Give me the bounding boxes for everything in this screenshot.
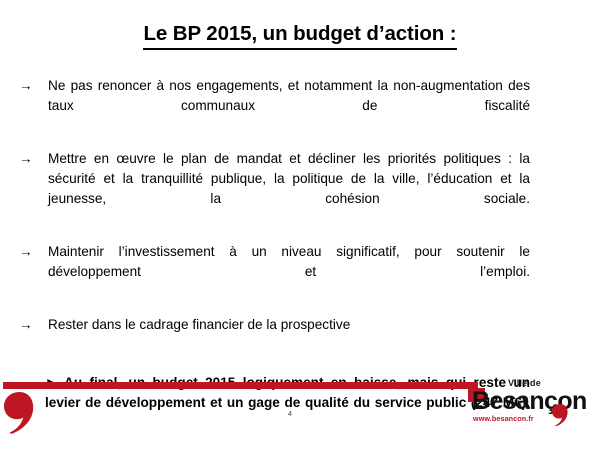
bullet-item: → Rester dans le cadrage financier de la… [18,315,530,355]
logo-besancon-label: Besançon [472,387,587,416]
arrow-right-icon: → [19,242,33,262]
bullet-text: Rester dans le cadrage financier de la p… [48,315,530,355]
slide-body: → Ne pas renoncer à nos engagements, et … [18,76,530,434]
arrow-right-icon: → [19,149,33,169]
slide: Le BP 2015, un budget d’action : → Ne pa… [0,0,600,450]
page-title: Le BP 2015, un budget d’action : [143,22,456,50]
footer-accent-bar [3,382,478,389]
page-title-container: Le BP 2015, un budget d’action : [0,22,600,50]
arrow-right-icon: → [19,315,33,335]
city-logo: Ville de Besançon www.besancon.fr [468,376,598,434]
bullet-text: Mettre en œuvre le plan de mandat et déc… [48,149,530,229]
bullet-text: Maintenir l’investissement à un niveau s… [48,242,530,302]
bullet-item: → Mettre en œuvre le plan de mandat et d… [18,149,530,229]
bullet-item: → Ne pas renoncer à nos engagements, et … [18,76,530,136]
bullet-item: → Maintenir l’investissement à un niveau… [18,242,530,302]
bullet-text: Ne pas renoncer à nos engagements, et no… [48,76,530,136]
logo-comma-icon [552,404,569,426]
logo-website-url[interactable]: www.besancon.fr [473,414,534,423]
arrow-right-icon: → [19,76,33,96]
